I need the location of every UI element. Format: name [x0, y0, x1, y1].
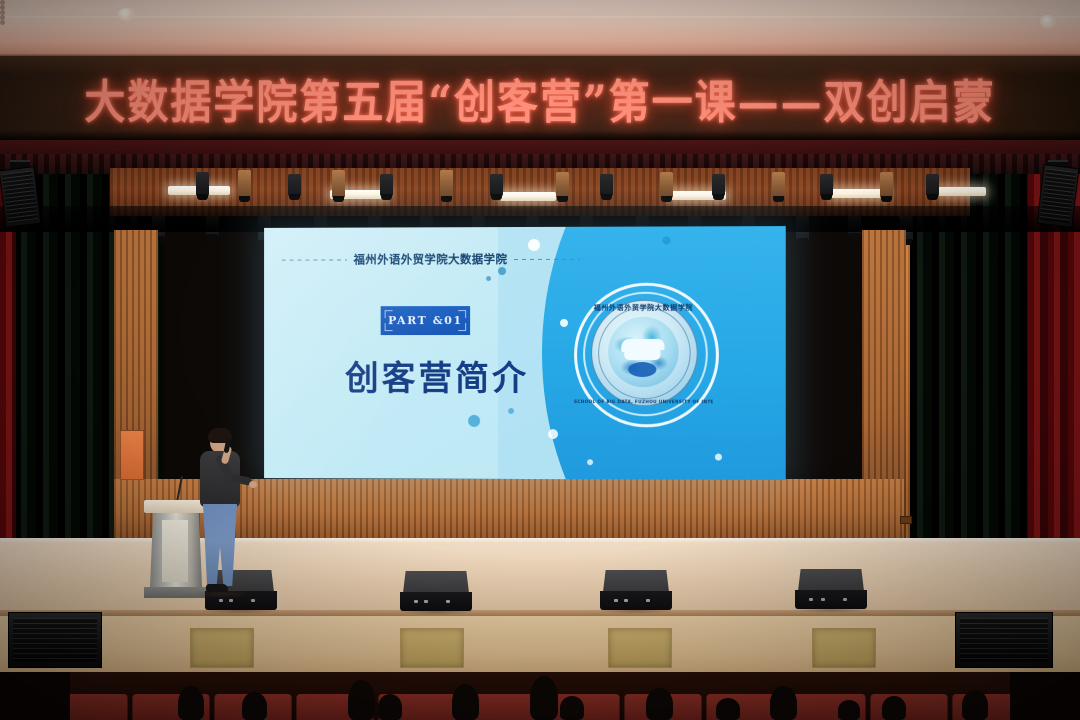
presentation-slide: 福州外语外贸学院大数据学院 PART &01 创客营简介 [264, 226, 786, 480]
decor-dot [498, 267, 506, 275]
bar-light [500, 192, 556, 201]
decor-dot [662, 237, 670, 245]
monitor-led [843, 598, 847, 601]
audience-head [348, 680, 375, 720]
stage-light-fixture [772, 172, 785, 198]
globe-icon [608, 317, 678, 387]
ceiling-downlight [118, 8, 135, 21]
decor-dot [486, 276, 491, 281]
slide-title: 创客营简介 [345, 351, 529, 400]
decor-dot [587, 459, 593, 465]
audience-head [716, 698, 740, 720]
stage-light-fixture [556, 172, 569, 198]
stage-light-fixture [288, 174, 301, 196]
decor-dot [528, 239, 540, 251]
apron-vent-panel [190, 628, 254, 668]
decor-dot [715, 454, 722, 461]
monitor-face [795, 590, 867, 609]
projection-screen[interactable]: 福州外语外贸学院大数据学院 PART &01 创客营简介 [264, 226, 786, 480]
university-seal-logo: 福州外语外贸学院大数据学院 SCHOOL OF BIG DATA, FUZHOU… [574, 283, 713, 422]
monitor-led [821, 598, 825, 601]
slide-header-text: 福州外语外贸学院大数据学院 [354, 251, 508, 267]
audience-head [770, 686, 797, 720]
presenter-shoes [206, 584, 228, 592]
stage-light-fixture [332, 170, 345, 198]
ceiling-downlight [1040, 15, 1056, 28]
audience-head [838, 700, 860, 720]
wall-outlet [900, 516, 912, 524]
pa-speaker-left [0, 166, 41, 228]
ceiling-downlight [0, 20, 5, 25]
podium-front-panel [162, 520, 188, 582]
presenter-right-hand [249, 481, 257, 488]
audience-edge-shadow-right [1010, 672, 1080, 720]
stage-monitor [400, 571, 472, 611]
monitor-led [251, 599, 255, 602]
audience-head [882, 696, 906, 720]
stage-light-fixture [490, 174, 503, 196]
stage-curtain-red-left [0, 174, 16, 578]
monitor-grille [603, 570, 669, 592]
stage-curtain-right [910, 174, 1032, 574]
audience-head [962, 690, 988, 720]
stage-light-fixture [600, 174, 613, 196]
decor-dot [468, 415, 480, 427]
badge-corner-br-icon [458, 323, 466, 331]
monitor-led [624, 599, 628, 602]
badge-corner-tl-icon [385, 310, 393, 318]
monitor-led [446, 600, 450, 603]
monitor-grille [403, 571, 469, 593]
stage-monitor [795, 569, 867, 609]
monitor-face [400, 592, 472, 611]
stage-light-fixture [926, 174, 939, 196]
audience-head [452, 684, 479, 720]
stage-light-fixture [880, 172, 893, 198]
pa-speaker-right [1036, 164, 1079, 228]
monitor-led [646, 599, 650, 602]
ceiling-seam [0, 16, 1080, 18]
audience-head [178, 686, 204, 720]
presenter [192, 430, 250, 602]
decor-dot [560, 319, 568, 327]
stage-light-fixture [380, 174, 393, 196]
audience-head [530, 676, 558, 720]
cloud-icon [624, 341, 660, 360]
stage-light-fixture [820, 174, 833, 196]
seal-text-bottom: SCHOOL OF BIG DATA, FUZHOU UNIVERSITY OF… [574, 399, 713, 404]
monitor-led [414, 600, 418, 603]
led-banner: 大数据学院第五届“创客营”第一课——双创启蒙 [0, 56, 1080, 140]
subwoofer-right [955, 612, 1053, 668]
decor-dot [548, 429, 558, 439]
seal-text-top: 福州外语外贸学院大数据学院 [574, 303, 713, 313]
badge-corner-tr-icon [458, 310, 466, 318]
monitor-led [424, 600, 428, 603]
pa-grille [2, 170, 38, 223]
audience-head [242, 692, 267, 720]
stage-light-fixture [196, 172, 209, 196]
subwoofer-grille [960, 618, 1048, 662]
audience-head [560, 696, 584, 720]
slide-header: 福州外语外贸学院大数据学院 [282, 251, 580, 268]
apron-vent-panel [400, 628, 464, 668]
bar-light [938, 187, 986, 196]
badge-corner-bl-icon [385, 323, 393, 331]
decor-dot [508, 408, 514, 414]
audience-edge-shadow-left [0, 672, 70, 720]
audience-head [378, 694, 402, 720]
stage-light-fixture [660, 172, 673, 198]
apron-vent-panel [812, 628, 876, 668]
stage-light-fixture [440, 170, 453, 198]
subwoofer-grille [13, 618, 97, 662]
monitor-grille [798, 569, 864, 591]
stage-light-fixture [712, 174, 725, 196]
stage-light-fixture [238, 170, 251, 198]
auditorium-scene: 大数据学院第五届“创客营”第一课——双创启蒙 [0, 0, 1080, 720]
pa-grille [1040, 168, 1076, 223]
audience-area [0, 672, 1080, 720]
stage-monitor [600, 570, 672, 610]
slide-part-label: PART &01 [388, 314, 463, 327]
stage-curtain-red-right [1028, 174, 1080, 578]
dash-line-left [282, 259, 347, 260]
monitor-face [600, 591, 672, 610]
apron-vent-panel [608, 628, 672, 668]
monitor-led [809, 598, 813, 601]
slide-part-badge: PART &01 [381, 306, 470, 335]
wall-accent-panel [120, 430, 144, 480]
dash-line-right [514, 258, 580, 259]
banner-title: 大数据学院第五届“创客营”第一课——双创启蒙 [84, 64, 995, 131]
subwoofer-left [8, 612, 102, 668]
audience-head [646, 688, 673, 720]
monitor-led [614, 599, 618, 602]
network-node-icon [628, 362, 656, 377]
presenter-legs [203, 504, 237, 586]
ceiling [0, 0, 1080, 58]
